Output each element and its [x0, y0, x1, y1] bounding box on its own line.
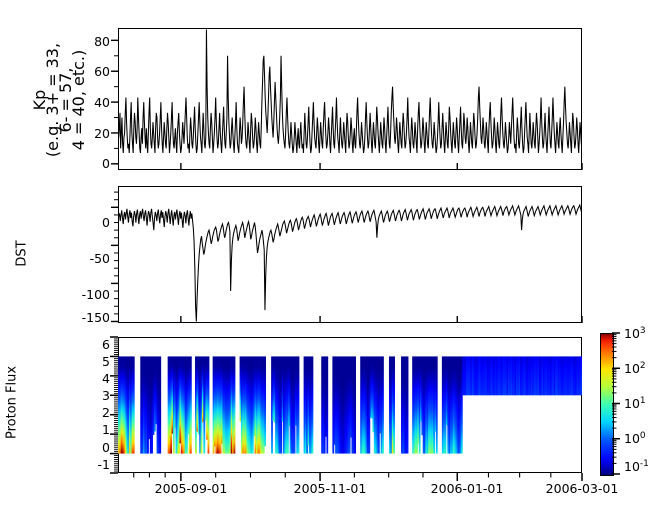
colorbar-exponent-0: 0: [640, 431, 646, 441]
figure-canvas: Kp (e.g. 3+ = 33, 6- = 57, 4 = 40, etc.)…: [0, 0, 665, 523]
colorbar-tick-label-minus1: 10-1: [624, 459, 649, 474]
dst-axis-label: DST: [15, 224, 30, 284]
colorbar-exponent-3: 3: [640, 326, 646, 336]
xtick-label-2: 2006-01-01: [407, 481, 527, 496]
xtick-label-1: 2005-11-01: [270, 481, 390, 496]
flux-axis-ticks: [100, 330, 600, 490]
colorbar-tick-label-2: 102: [624, 361, 646, 376]
flux-axis-label: Proton Flux: [5, 353, 20, 453]
colorbar-tick-label-3: 103: [624, 326, 646, 341]
dst-axis-ticks: [100, 178, 600, 333]
colorbar-tick-label-1: 101: [624, 396, 646, 411]
colorbar-exponent-2: 2: [640, 361, 646, 371]
colorbar-exponent-1: 1: [640, 396, 646, 406]
kp-axis-ticks: [100, 20, 600, 180]
colorbar-tick-label-0: 100: [624, 431, 646, 446]
xtick-label-0: 2005-09-01: [131, 481, 251, 496]
colorbar-exponent-minus1: -1: [640, 459, 649, 469]
